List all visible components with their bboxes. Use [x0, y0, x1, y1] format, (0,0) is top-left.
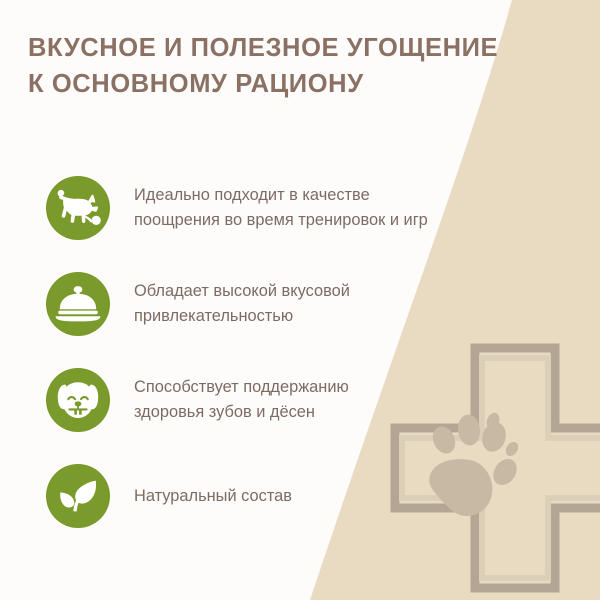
feature-item-training-reward: Идеально подходит в качестве поощрения в…: [0, 160, 600, 256]
feature-text-line: Натуральный состав: [134, 484, 292, 509]
feature-text-line: Обладает высокой вкусовой: [134, 279, 350, 304]
feature-text-line: привлекательностью: [134, 304, 350, 329]
feature-text-line: Способствует поддержанию: [134, 375, 349, 400]
leaves-icon: [46, 464, 110, 528]
feature-item-dental-health: Способствует поддержанию здоровья зубов …: [0, 352, 600, 448]
feature-item-palatability-label: Обладает высокой вкусовой привлекательно…: [134, 279, 350, 329]
food-cloche-icon: [46, 272, 110, 336]
happy-dog-face-icon: [46, 368, 110, 432]
feature-text-line: поощрения во время тренировок и игр: [134, 208, 428, 233]
page-title-line-1: ВКУСНОЕ И ПОЛЕЗНОЕ УГОЩЕНИЕ: [28, 30, 568, 66]
feature-item-palatability: Обладает высокой вкусовой привлекательно…: [0, 256, 600, 352]
feature-item-natural-composition: Натуральный состав: [0, 448, 600, 544]
feature-item-training-reward-label: Идеально подходит в качестве поощрения в…: [134, 183, 428, 233]
feature-list: Идеально подходит в качестве поощрения в…: [0, 160, 600, 544]
feature-item-natural-composition-label: Натуральный состав: [134, 484, 292, 509]
feature-item-dental-health-label: Способствует поддержанию здоровья зубов …: [134, 375, 349, 425]
page-title-line-2: К ОСНОВНОМУ РАЦИОНУ: [28, 66, 568, 102]
feature-text-line: Идеально подходит в качестве: [134, 183, 428, 208]
feature-text-line: здоровья зубов и дёсен: [134, 400, 349, 425]
page-title: ВКУСНОЕ И ПОЛЕЗНОЕ УГОЩЕНИЕ К ОСНОВНОМУ …: [28, 30, 568, 102]
running-dog-with-ball-icon: [46, 176, 110, 240]
pet-treat-benefits-infographic: ВКУСНОЕ И ПОЛЕЗНОЕ УГОЩЕНИЕ К ОСНОВНОМУ …: [0, 0, 600, 600]
